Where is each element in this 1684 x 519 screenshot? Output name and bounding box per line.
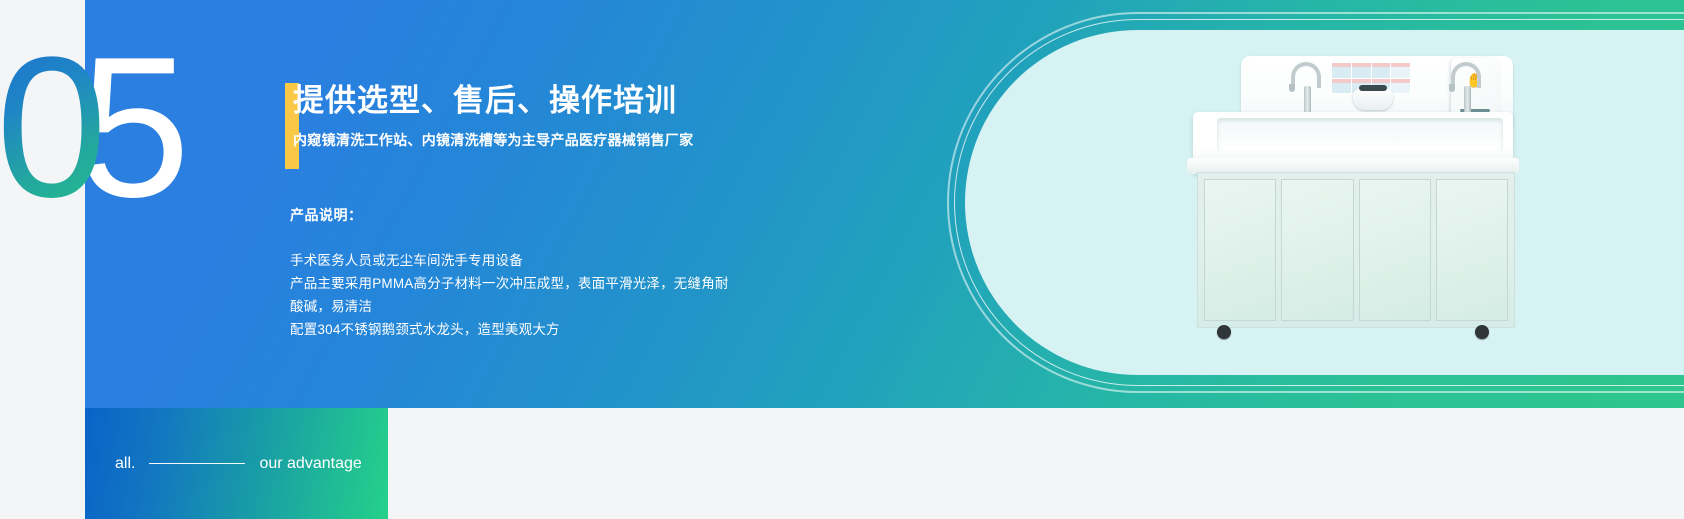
cabinet-door: [1281, 179, 1353, 321]
caster-wheel: [1217, 325, 1231, 339]
soap-dispenser: [1353, 88, 1393, 110]
poster-step-icon: [1352, 63, 1371, 78]
product-image: ✋: [1183, 40, 1523, 360]
footer-divider-rule: [149, 463, 245, 464]
cabinet-body: [1197, 172, 1515, 328]
hero-card: 5 提供选型、售后、操作培训 内窥镜清洗工作站、内镜清洗槽等为主导产品医疗器械销…: [85, 0, 1684, 408]
faucet-neck: [1291, 62, 1321, 88]
cabinet-door: [1359, 179, 1431, 321]
poster-step-icon: [1391, 63, 1410, 78]
poster-step-icon: [1332, 79, 1351, 94]
sink-basin-inner: [1217, 118, 1503, 152]
slide-number-zero: 0: [0, 28, 105, 228]
description-block: 产品说明： 手术医务人员或无尘车间洗手专用设备 产品主要采用PMMA高分子材料一…: [290, 205, 810, 341]
poster-step-icon: [1391, 79, 1410, 94]
footer-right-label: our advantage: [259, 455, 361, 473]
faucet-neck: [1451, 62, 1481, 88]
faucet-spout: [1289, 84, 1295, 92]
page-title: 提供选型、售后、操作培训: [293, 80, 993, 122]
description-line: 手术医务人员或无尘车间洗手专用设备: [290, 249, 810, 272]
poster-step-icon: [1372, 63, 1391, 78]
description-line: 配置304不锈钢鹅颈式水龙头，造型美观大方: [290, 318, 810, 341]
description-line: 酸碱，易清洁: [290, 295, 810, 318]
footer-ribbon: all. our advantage: [85, 408, 388, 519]
caster-wheel: [1475, 325, 1489, 339]
slide-root: 0 5 提供选型、售后、操作培训 内窥镜清洗工作站、内镜清洗槽等为主导产品医疗器…: [0, 0, 1684, 519]
description-line: 产品主要采用PMMA高分子材料一次冲压成型，表面平滑光泽，无缝角耐: [290, 272, 810, 295]
cabinet-door: [1204, 179, 1276, 321]
description-heading: 产品说明：: [290, 205, 810, 225]
footer-left-label: all.: [115, 455, 135, 473]
poster-step-icon: [1332, 63, 1351, 78]
description-list: 手术医务人员或无尘车间洗手专用设备 产品主要采用PMMA高分子材料一次冲压成型，…: [290, 249, 810, 341]
page-subtitle: 内窥镜清洗工作站、内镜清洗槽等为主导产品医疗器械销售厂家: [293, 130, 993, 150]
cabinet-doors: [1204, 179, 1508, 321]
cabinet-door: [1436, 179, 1508, 321]
title-block: 提供选型、售后、操作培训 内窥镜清洗工作站、内镜清洗槽等为主导产品医疗器械销售厂…: [293, 80, 993, 150]
faucet-spout: [1449, 84, 1455, 92]
